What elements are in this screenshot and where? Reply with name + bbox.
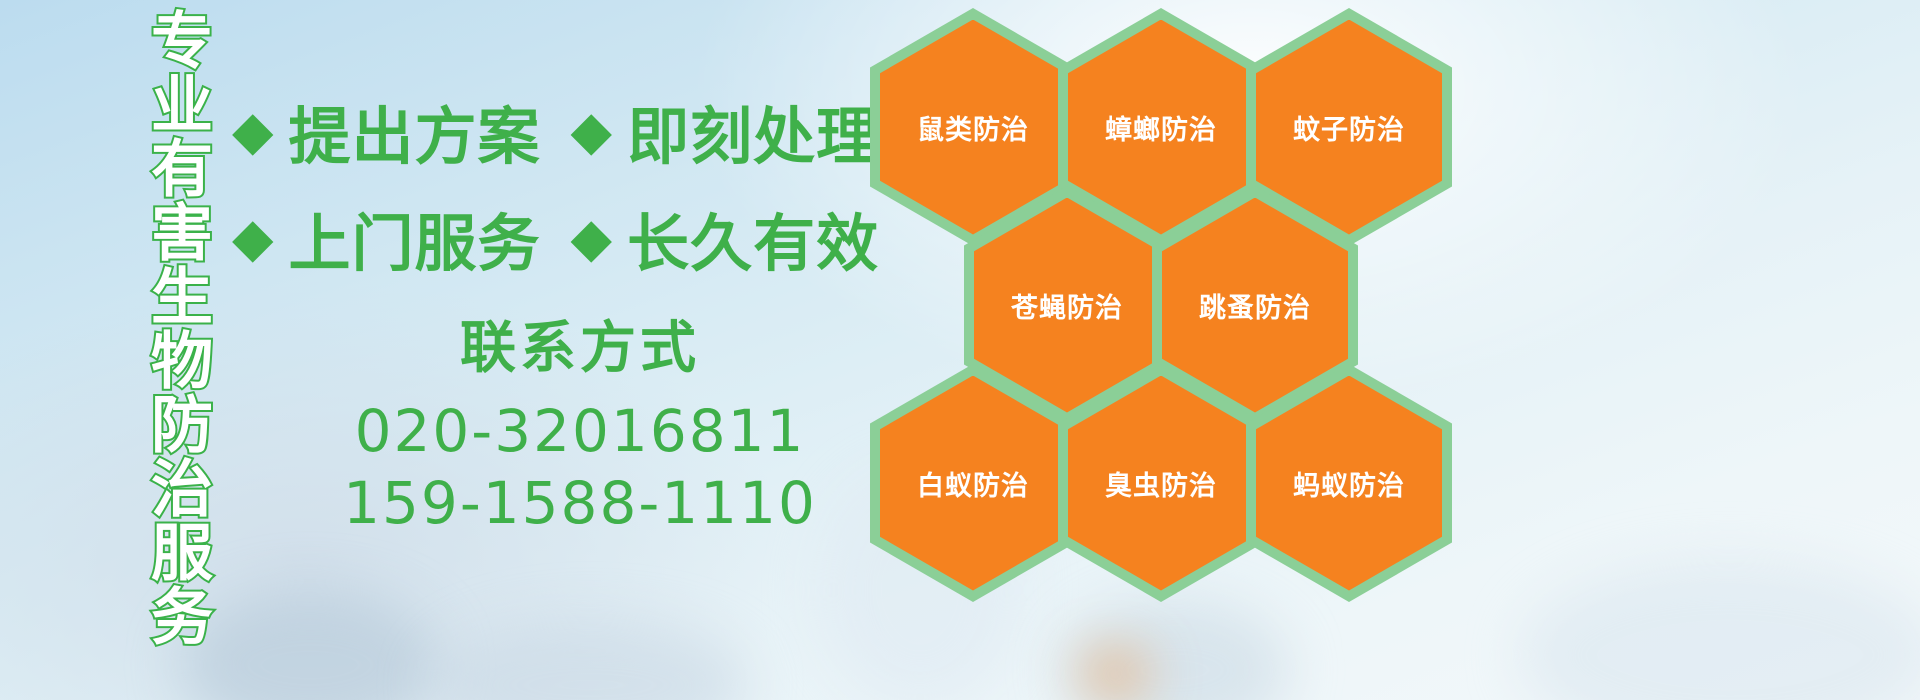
service-hexagon-label: 蚊子防治	[1293, 108, 1405, 147]
diamond-bullet-icon: ◆	[571, 211, 614, 265]
slogan-item-onsite-service: 上门服务	[289, 193, 541, 283]
hexagon-inner-fill: 臭虫防治	[1068, 376, 1254, 591]
hexagon-inner-fill: 蚊子防治	[1256, 20, 1442, 235]
contact-block: 联系方式 020-32016811 159-1588-1110	[300, 318, 860, 540]
background-blur-blob	[180, 590, 440, 700]
slogan-item-propose-plan: 提出方案	[289, 86, 541, 176]
hexagon-inner-fill: 跳蚤防治	[1162, 198, 1348, 413]
service-hexagon-label: 苍蝇防治	[1011, 286, 1123, 325]
background-blur-blob	[1520, 560, 1920, 700]
slogan-item-immediate-action: 即刻处理	[627, 86, 879, 176]
service-hexagon-label: 臭虫防治	[1105, 464, 1217, 503]
background-blur-blob	[430, 620, 750, 700]
pest-control-banner: 专业有害生物防治服务 ◆ 提出方案 ◆ 即刻处理 ◆ 上门服务 ◆ 长久有效 联…	[0, 0, 1920, 700]
service-honeycomb-grid: 鼠类防治 蟑螂防治 蚊子防治 苍蝇防治 跳蚤防治 白蚁防治	[862, 0, 1502, 700]
slogan-row-1: ◆ 提出方案 ◆ 即刻处理	[232, 86, 879, 176]
diamond-bullet-icon: ◆	[232, 211, 275, 265]
contact-phone-landline[interactable]: 020-32016811	[300, 395, 860, 468]
hexagon-inner-fill: 白蚁防治	[880, 376, 1066, 591]
diamond-bullet-icon: ◆	[232, 104, 275, 158]
slogan-item-long-lasting: 长久有效	[627, 193, 879, 283]
service-hexagon-label: 蟑螂防治	[1105, 108, 1217, 147]
slogan-row-2: ◆ 上门服务 ◆ 长久有效	[232, 193, 879, 283]
contact-label: 联系方式	[300, 318, 860, 381]
hexagon-inner-fill: 苍蝇防治	[974, 198, 1160, 413]
hexagon-inner-fill: 鼠类防治	[880, 20, 1066, 235]
contact-phone-mobile[interactable]: 159-1588-1110	[300, 467, 860, 540]
vertical-headline: 专业有害生物防治服务	[112, 8, 208, 648]
hexagon-inner-fill: 蟑螂防治	[1068, 20, 1254, 235]
diamond-bullet-icon: ◆	[571, 104, 614, 158]
service-hexagon-label: 跳蚤防治	[1199, 286, 1311, 325]
service-hexagon-label: 白蚁防治	[917, 464, 1029, 503]
service-hexagon-label: 鼠类防治	[917, 108, 1029, 147]
service-hexagon-label: 蚂蚁防治	[1293, 464, 1405, 503]
hexagon-inner-fill: 蚂蚁防治	[1256, 376, 1442, 591]
